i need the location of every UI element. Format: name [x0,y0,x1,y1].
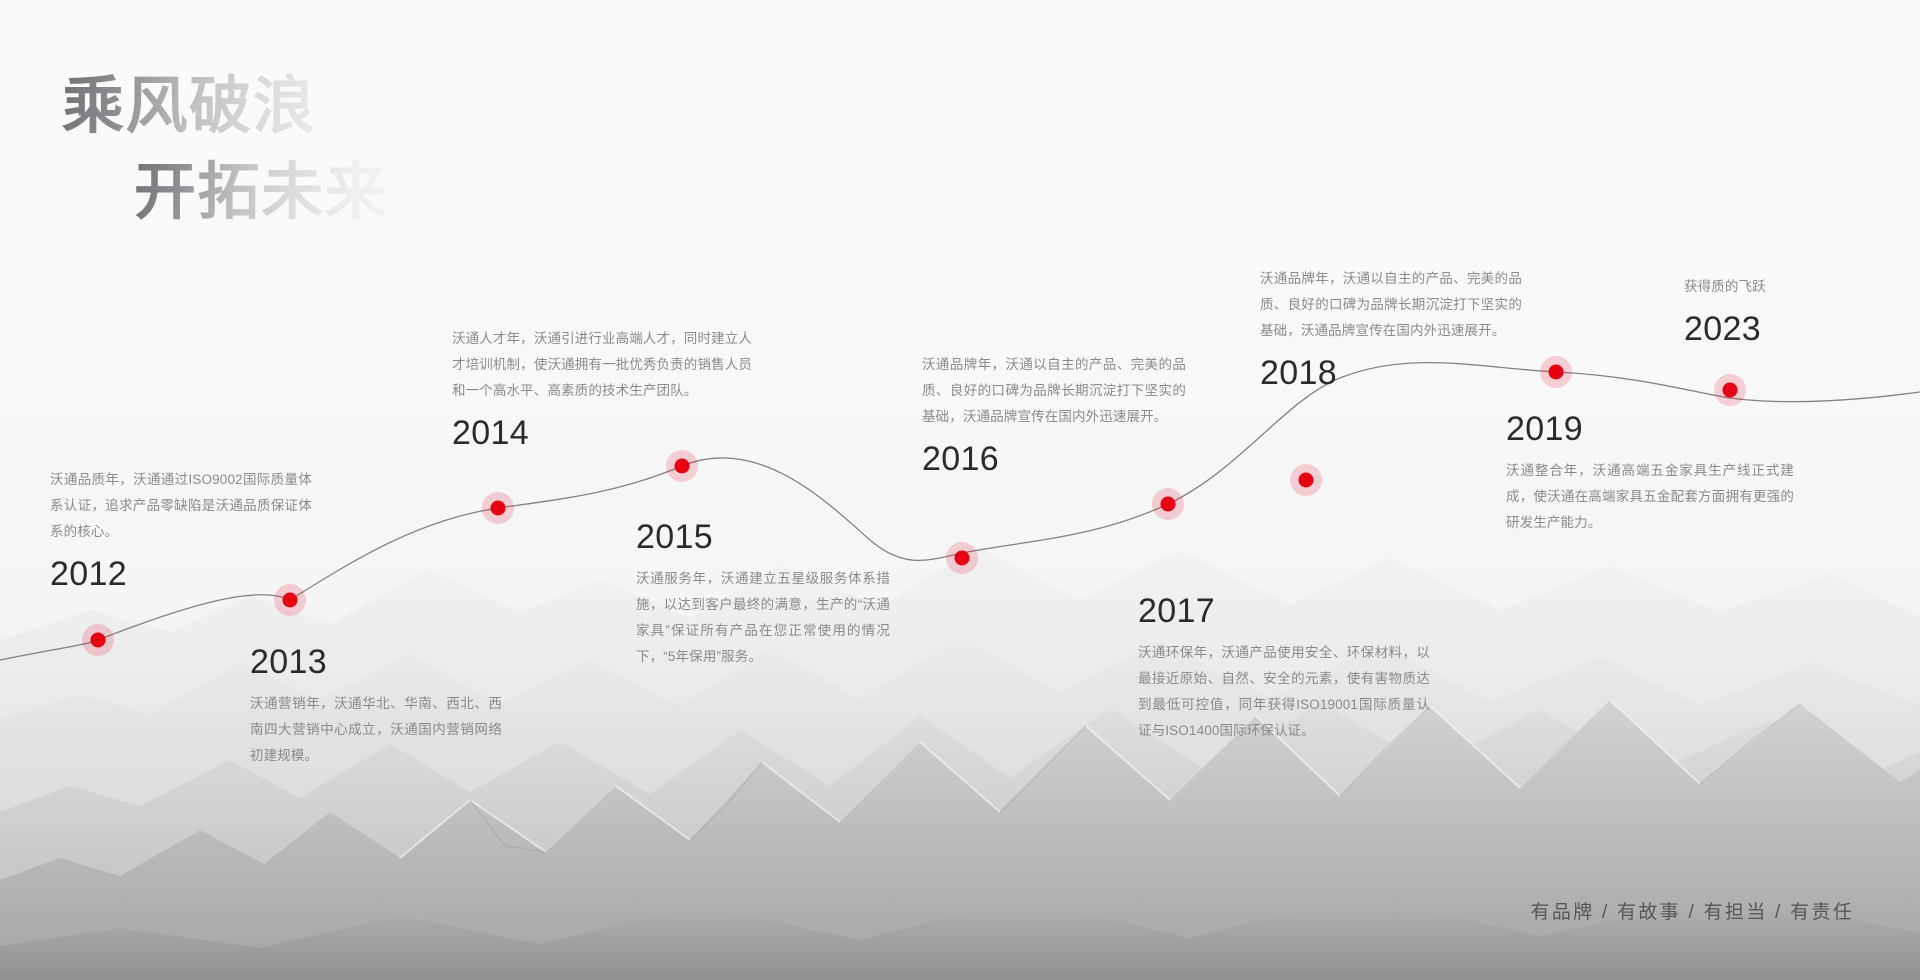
milestone-description: 沃通品牌年，沃通以自主的产品、完美的品质、良好的口碑为品牌长期沉淀打下坚实的基础… [922,352,1186,430]
milestone-year: 2018 [1260,356,1522,390]
milestone-2017: 2017 沃通环保年，沃通产品使用安全、环保材料，以最接近原始、自然、安全的元素… [1138,594,1430,744]
milestone-2013: 2013 沃通营销年，沃通华北、华南、西北、西南四大营销中心成立，沃通国内营销网… [250,645,502,769]
milestone-description: 沃通人才年，沃通引进行业高端人才，同时建立人才培训机制，使沃通拥有一批优秀负责的… [452,326,752,404]
node-dot-icon [1299,473,1314,488]
milestone-2016: 沃通品牌年，沃通以自主的产品、完美的品质、良好的口碑为品牌长期沉淀打下坚实的基础… [922,352,1186,476]
node-dot-icon [1161,497,1176,512]
milestone-year: 2019 [1506,412,1794,446]
milestone-description: 沃通品质年，沃通通过ISO9002国际质量体系认证，追求产品零缺陷是沃通品质保证… [50,467,312,545]
milestone-year: 2012 [50,557,312,591]
node-dot-icon [1549,365,1564,380]
node-dot-icon [283,593,298,608]
node-dot-icon [955,551,970,566]
milestone-year: 2015 [636,520,890,554]
milestone-2015: 2015 沃通服务年，沃通建立五星级服务体系措施，以达到客户最终的满意，生产的“… [636,520,890,670]
milestone-2023: 获得质的飞跃 2023 [1684,274,1914,346]
node-dot-icon [491,501,506,516]
milestone-description: 沃通品牌年，沃通以自主的产品、完美的品质、良好的口碑为品牌长期沉淀打下坚实的基础… [1260,266,1522,344]
milestone-description: 沃通营销年，沃通华北、华南、西北、西南四大营销中心成立，沃通国内营销网络初建规模… [250,691,502,769]
title-line-1: 乘风破浪 [62,70,388,144]
milestone-2019: 2019 沃通整合年，沃通高端五金家具生产线正式建成，使沃通在高端家具五金配套方… [1506,412,1794,536]
milestone-description: 获得质的飞跃 [1684,274,1914,300]
node-dot-icon [675,459,690,474]
milestone-description: 沃通服务年，沃通建立五星级服务体系措施，以达到客户最终的满意，生产的“沃通家具”… [636,566,890,670]
milestone-description: 沃通环保年，沃通产品使用安全、环保材料，以最接近原始、自然、安全的元素，使有害物… [1138,640,1430,744]
milestone-description: 沃通整合年，沃通高端五金家具生产线正式建成，使沃通在高端家具五金配套方面拥有更强… [1506,458,1794,536]
milestone-year: 2023 [1684,312,1914,346]
page-title: 乘风破浪 开拓未来 [62,70,388,230]
milestone-year: 2016 [922,442,1186,476]
milestone-2014: 沃通人才年，沃通引进行业高端人才，同时建立人才培训机制，使沃通拥有一批优秀负责的… [452,326,752,450]
milestone-2012: 沃通品质年，沃通通过ISO9002国际质量体系认证，追求产品零缺陷是沃通品质保证… [50,467,312,591]
node-dot-icon [1723,383,1738,398]
milestone-year: 2014 [452,416,752,450]
milestone-2018: 沃通品牌年，沃通以自主的产品、完美的品质、良好的口碑为品牌长期沉淀打下坚实的基础… [1260,266,1522,390]
milestone-year: 2017 [1138,594,1430,628]
milestone-year: 2013 [250,645,502,679]
node-dot-icon [91,633,106,648]
footer-tagline: 有品牌 / 有故事 / 有担当 / 有责任 [1531,897,1854,924]
timeline-infographic: 乘风破浪 开拓未来 沃通品质年，沃通通 [0,0,1920,980]
title-line-2: 开拓未来 [134,156,388,230]
